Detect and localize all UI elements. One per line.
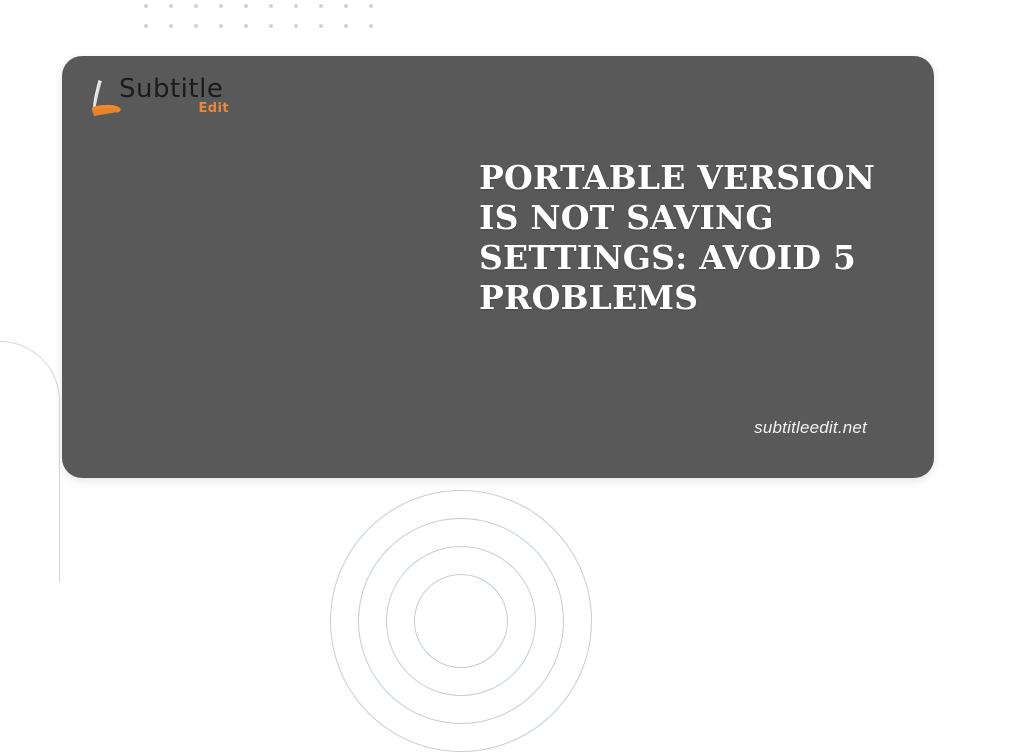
grid-dot	[319, 4, 323, 8]
grid-dot	[294, 24, 298, 28]
headline-title: Portable Version is not saving settings:…	[479, 158, 889, 318]
arc-ring-1	[330, 490, 592, 752]
graphic-canvas: Subtitle Edit Portable Version is not sa…	[0, 0, 1024, 536]
grid-dot	[344, 24, 348, 28]
grid-dot	[319, 24, 323, 28]
grid-dot	[344, 4, 348, 8]
grid-dot	[144, 4, 148, 8]
concentric-arcs	[330, 470, 590, 540]
grid-dot	[294, 4, 298, 8]
grid-dot	[144, 24, 148, 28]
grid-dot	[194, 24, 198, 28]
logo-text-edit: Edit	[199, 102, 229, 116]
arc-ring-2	[358, 518, 564, 724]
left-arch-outline	[0, 341, 60, 582]
grid-dot	[269, 4, 273, 8]
grid-dot	[369, 24, 373, 28]
promo-card: Subtitle Edit Portable Version is not sa…	[62, 56, 934, 478]
grid-dot	[219, 4, 223, 8]
grid-dot	[269, 24, 273, 28]
grid-dot	[244, 24, 248, 28]
grid-dot	[369, 4, 373, 8]
dot-grid-pattern	[144, 4, 372, 38]
arc-ring-4	[414, 574, 508, 668]
logo-wordmark: Subtitle Edit	[119, 75, 231, 121]
grid-dot	[194, 4, 198, 8]
arc-ring-3	[386, 546, 536, 696]
site-url-label: subtitleedit.net	[754, 418, 867, 438]
grid-dot	[169, 4, 173, 8]
grid-dot	[169, 24, 173, 28]
subtitle-edit-logo[interactable]: Subtitle Edit	[82, 70, 232, 126]
grid-dot	[219, 24, 223, 28]
logo-text-subtitle: Subtitle	[119, 75, 223, 103]
grid-dot	[244, 4, 248, 8]
